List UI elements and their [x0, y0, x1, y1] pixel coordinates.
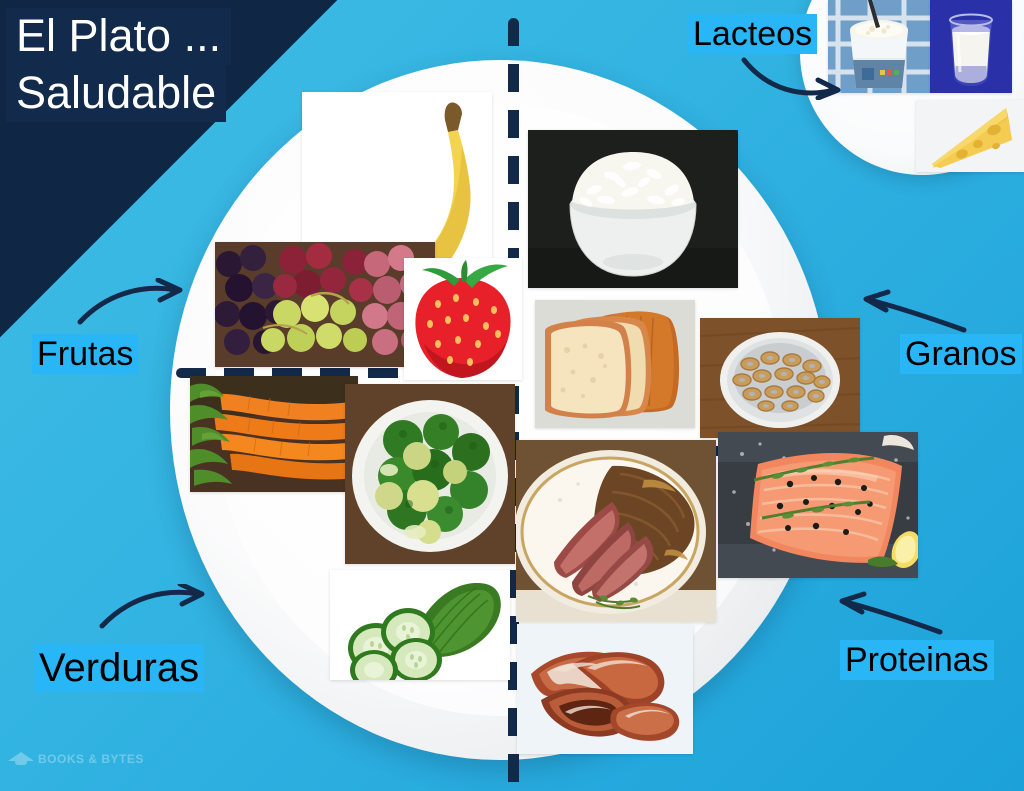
- photo-grapes: [215, 242, 435, 367]
- watermark-logo: BOOKS & BYTES: [8, 752, 144, 766]
- photo-bread: [535, 300, 695, 428]
- label-frutas: Frutas: [32, 334, 138, 374]
- photo-cereal: [700, 318, 860, 438]
- photo-steak: [516, 440, 716, 622]
- slide-canvas: Lacteos Granos Frutas Verduras Proteinas…: [0, 0, 1024, 791]
- arrow-frutas: [76, 278, 186, 328]
- label-granos: Granos: [900, 334, 1022, 374]
- title-line-1: El Plato ...: [6, 8, 231, 65]
- photo-cucumber: [330, 570, 510, 680]
- slide-title: El Plato ... Saludable: [6, 8, 231, 122]
- photo-milk: [930, 0, 1012, 93]
- label-verduras: Verduras: [34, 644, 204, 692]
- label-lacteos: Lacteos: [688, 14, 817, 54]
- photo-broccoli: [345, 384, 515, 564]
- photo-carrots: [190, 376, 358, 492]
- photo-strawberry: [404, 258, 522, 380]
- arrow-lacteos: [740, 50, 850, 100]
- photo-cheese: [916, 100, 1024, 172]
- graduation-cap-icon: [8, 752, 34, 766]
- label-proteinas: Proteinas: [840, 640, 994, 680]
- photo-salmon: [718, 432, 918, 578]
- arrow-granos: [858, 286, 968, 336]
- watermark-text: BOOKS & BYTES: [38, 752, 144, 766]
- photo-bacon: [517, 624, 693, 754]
- arrow-verduras: [98, 584, 208, 630]
- title-line-2: Saludable: [6, 65, 226, 122]
- photo-rice-bowl: [528, 130, 738, 288]
- arrow-proteinas: [834, 588, 944, 638]
